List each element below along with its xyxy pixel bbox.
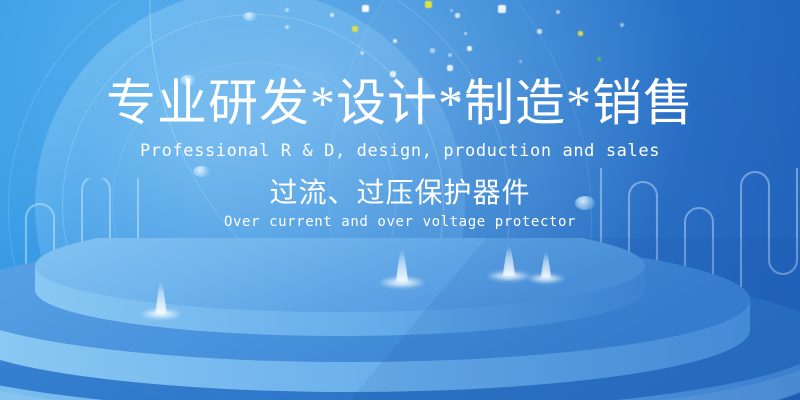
beam-pool bbox=[141, 309, 181, 319]
particle-dot bbox=[330, 13, 334, 17]
particle-dot bbox=[455, 13, 460, 18]
particle-dot bbox=[425, 1, 432, 8]
particle-dot bbox=[352, 26, 358, 32]
promo-banner: 专业研发*设计*制造*销售 Professional R & D, design… bbox=[0, 0, 800, 400]
particle-dot bbox=[430, 48, 435, 53]
podium-stage bbox=[0, 238, 800, 400]
particle-dot bbox=[360, 51, 364, 55]
particle-dot bbox=[447, 65, 453, 71]
halo-dot-4 bbox=[243, 12, 257, 21]
particle-dot bbox=[537, 29, 542, 34]
particle-dot bbox=[285, 8, 289, 12]
particle-dot bbox=[285, 25, 289, 29]
particle-dot bbox=[362, 5, 369, 12]
cloud-bracket-shape bbox=[0, 296, 98, 368]
particle-dot bbox=[467, 46, 472, 51]
particle-dot bbox=[620, 23, 624, 27]
particle-dot bbox=[448, 53, 452, 57]
particle-dot bbox=[578, 31, 583, 36]
beam-cone bbox=[503, 246, 516, 276]
subtitle-english-secondary: Over current and over voltage protector bbox=[0, 212, 800, 232]
beam-pool bbox=[488, 271, 530, 281]
beam-pool bbox=[528, 274, 564, 283]
subtitle-english-primary: Professional R & D, design, production a… bbox=[0, 140, 800, 162]
headline-chinese-primary: 专业研发*设计*制造*销售 bbox=[0, 74, 800, 132]
beam-cone bbox=[155, 282, 167, 314]
beam-pool bbox=[380, 277, 424, 288]
particle-dot bbox=[556, 10, 560, 14]
particle-dot bbox=[464, 32, 467, 35]
beam-cone bbox=[541, 252, 552, 278]
particle-dot bbox=[597, 57, 601, 61]
particle-dot bbox=[393, 39, 397, 43]
headline-chinese-secondary: 过流、过压保护器件 bbox=[0, 176, 800, 212]
particle-dot bbox=[498, 5, 506, 13]
particle-dot bbox=[519, 60, 522, 63]
beam-cone bbox=[396, 250, 409, 282]
particle-dot bbox=[450, 9, 453, 12]
